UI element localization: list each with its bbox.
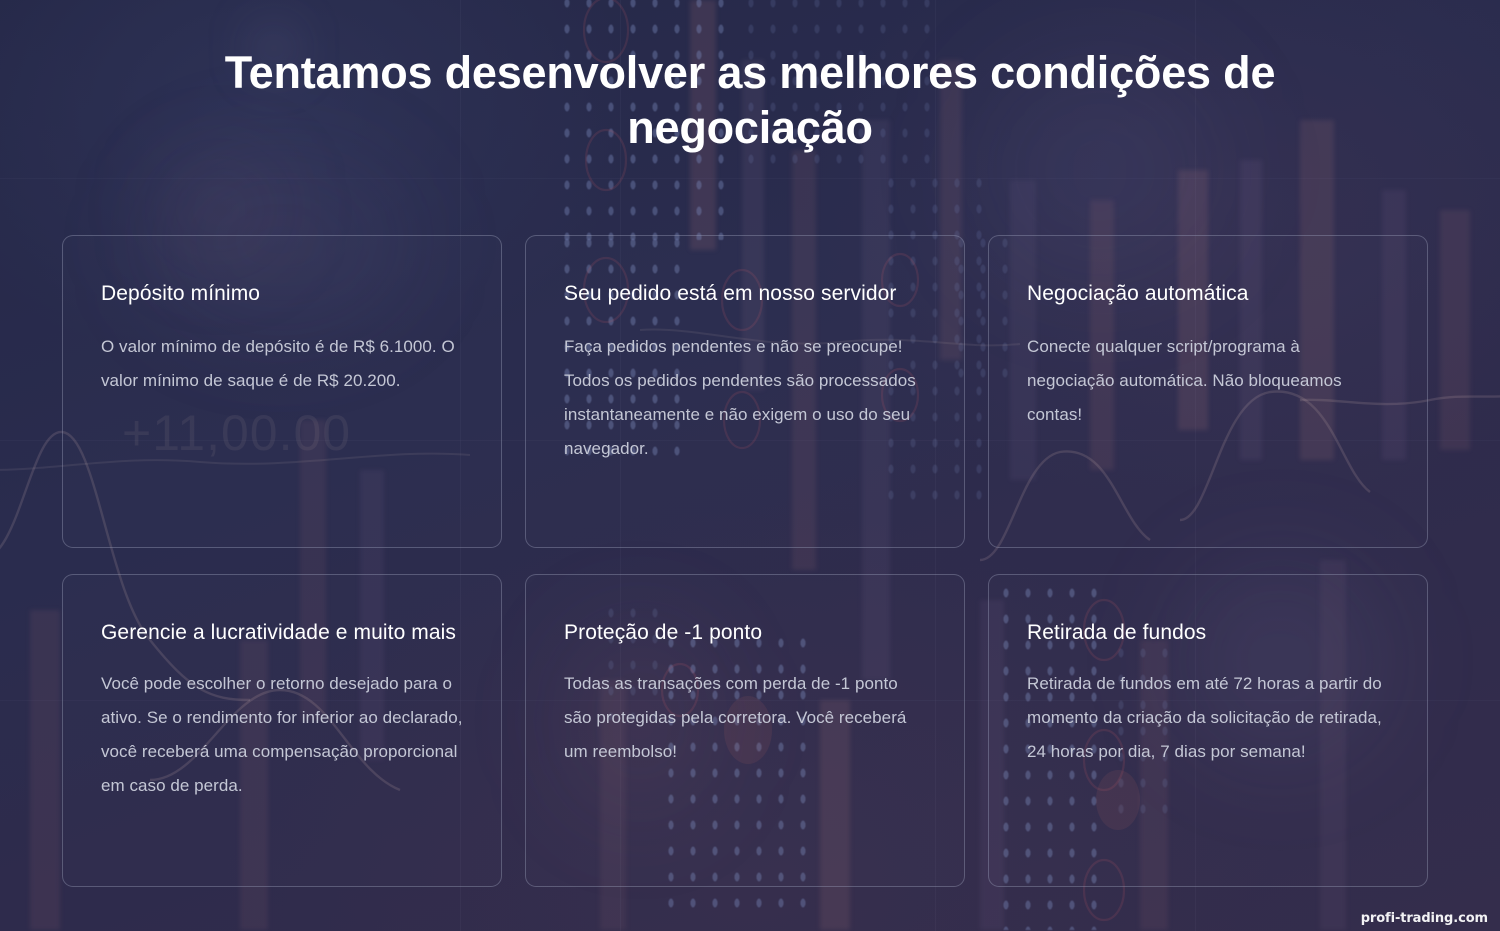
feature-card-grid: Depósito mínimo O valor mínimo de depósi… [62, 235, 1428, 887]
site-watermark: profi-trading.com [1361, 911, 1488, 926]
card-body: Conecte qualquer script/programa à negoc… [1027, 330, 1389, 432]
page-title: Tentamos desenvolver as melhores condiçõ… [0, 46, 1500, 156]
card-title: Proteção de -1 ponto [564, 615, 926, 651]
feature-card-deposito-minimo[interactable]: Depósito mínimo O valor mínimo de depósi… [62, 235, 502, 548]
card-body: Todas as transações com perda de -1 pont… [564, 667, 926, 769]
card-title: Gerencie a lucratividade e muito mais [101, 615, 463, 651]
card-body: Faça pedidos pendentes e não se preocupe… [564, 330, 926, 466]
card-title: Depósito mínimo [101, 276, 463, 312]
card-body: Você pode escolher o retorno desejado pa… [101, 667, 463, 803]
card-title: Seu pedido está em nosso servidor [564, 276, 926, 312]
card-body: O valor mínimo de depósito é de R$ 6.100… [101, 330, 463, 398]
feature-card-negociacao-automatica[interactable]: Negociação automática Conecte qualquer s… [988, 235, 1428, 548]
feature-card-gerencie-lucratividade[interactable]: Gerencie a lucratividade e muito mais Vo… [62, 574, 502, 887]
card-body: Retirada de fundos em até 72 horas a par… [1027, 667, 1389, 769]
feature-card-retirada-fundos[interactable]: Retirada de fundos Retirada de fundos em… [988, 574, 1428, 887]
feature-card-pedido-servidor[interactable]: Seu pedido está em nosso servidor Faça p… [525, 235, 965, 548]
page-root: Tentamos desenvolver as melhores condiçõ… [0, 0, 1500, 931]
card-title: Negociação automática [1027, 276, 1389, 312]
card-title: Retirada de fundos [1027, 615, 1389, 651]
feature-card-protecao-1-ponto[interactable]: Proteção de -1 ponto Todas as transações… [525, 574, 965, 887]
